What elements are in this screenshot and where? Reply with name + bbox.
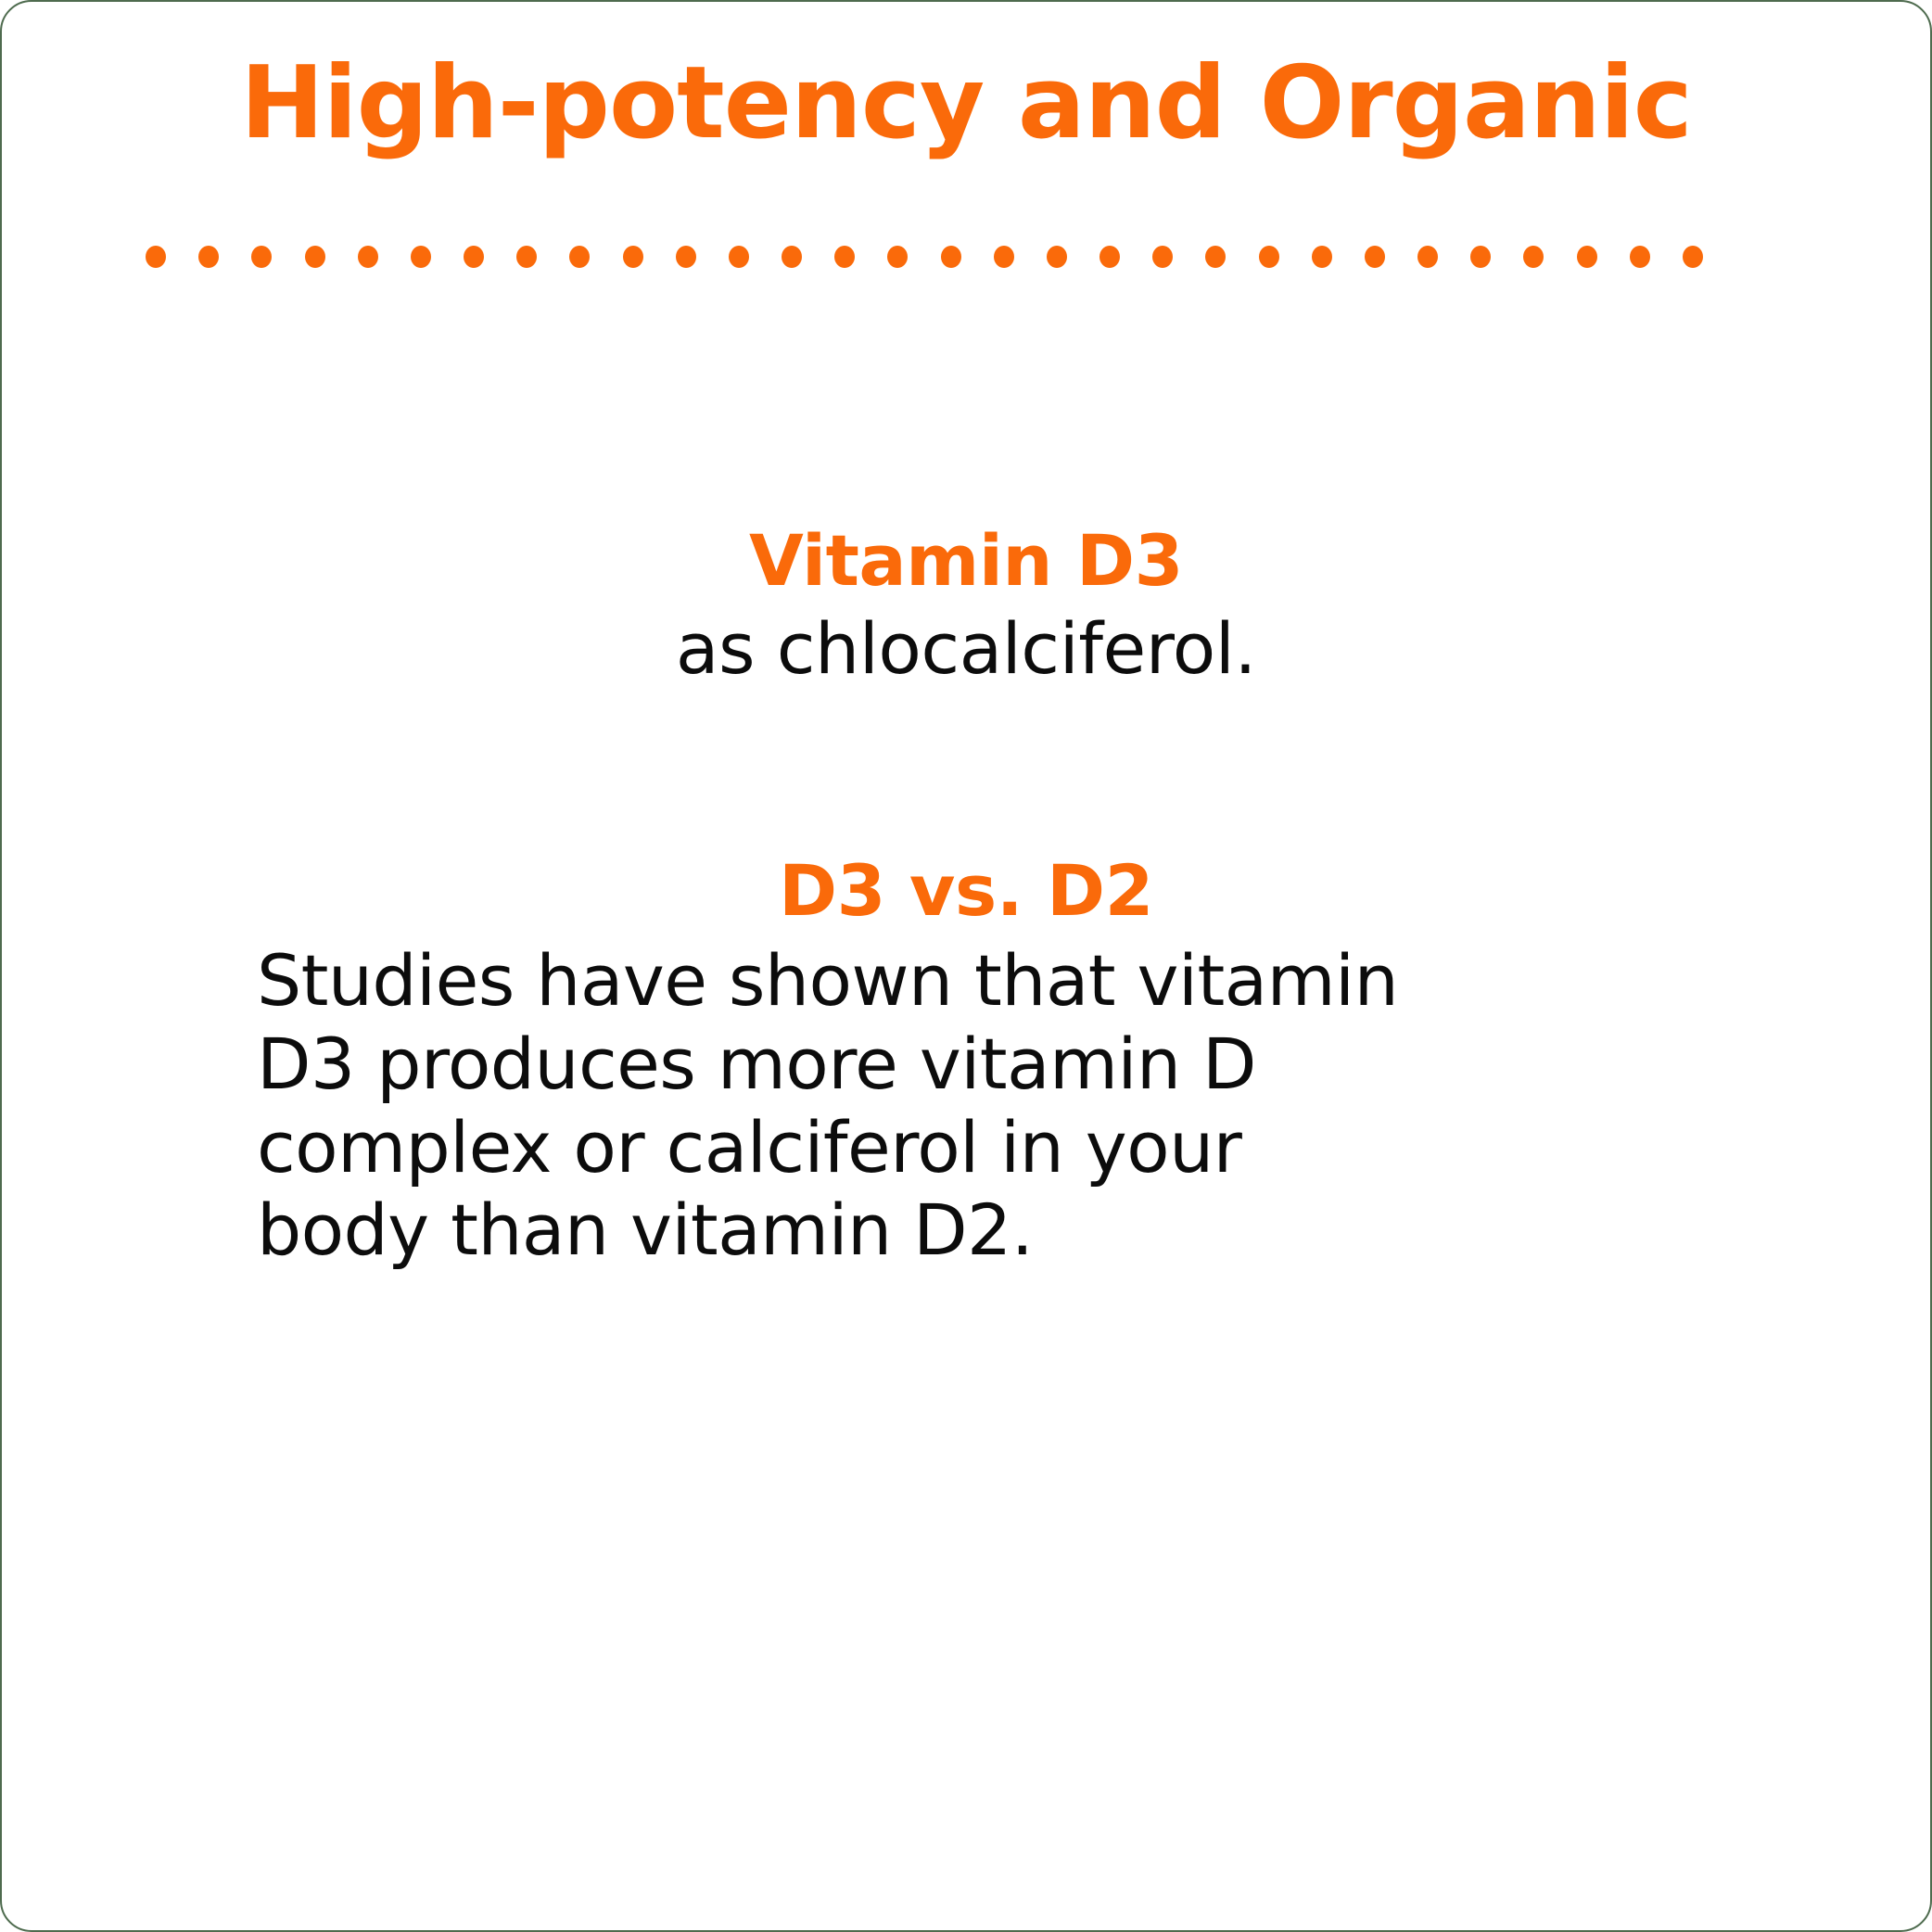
divider-dot [1523, 246, 1544, 268]
divider-dot [1470, 246, 1491, 268]
divider-dot [464, 246, 484, 268]
body-line: complex or calciferol in your [257, 1106, 1675, 1189]
divider-dot [1417, 246, 1438, 268]
section-d3-vs-d2: D3 vs. D2 Studies have shown that vitami… [2, 851, 1930, 1272]
divider-dot [1312, 246, 1332, 268]
divider-dot [1365, 246, 1385, 268]
divider-dot [1152, 246, 1173, 268]
section-body-vitamin-d3: as chlocalciferol. [2, 609, 1930, 688]
divider-dot [1205, 246, 1226, 268]
divider-dot [198, 246, 219, 268]
divider-dot [1630, 246, 1650, 268]
body-line: Studies have shown that vitamin [257, 939, 1675, 1023]
divider-dot [358, 246, 378, 268]
divider-dot [729, 246, 749, 268]
card-header: High-potency and Organic [2, 50, 1930, 159]
section-vitamin-d3: Vitamin D3 as chlocalciferol. [2, 521, 1930, 688]
divider-dot [305, 246, 325, 268]
divider-dot [994, 246, 1014, 268]
divider-dot [1099, 246, 1120, 268]
divider-dot [251, 246, 272, 268]
section-heading-vitamin-d3: Vitamin D3 [2, 521, 1930, 600]
divider-dot [569, 246, 590, 268]
section-body-d3-vs-d2: Studies have shown that vitamin D3 produ… [257, 939, 1675, 1272]
divider-dot [676, 246, 696, 268]
divider-dot [782, 246, 802, 268]
body-line: D3 produces more vitamin D [257, 1023, 1675, 1106]
divider-dot [516, 246, 537, 268]
divider-dot [941, 246, 961, 268]
divider-dot [1683, 246, 1703, 268]
divider-dot [834, 246, 855, 268]
section-body-wrapper: Studies have shown that vitamin D3 produ… [257, 939, 1675, 1272]
dotted-divider [146, 245, 1703, 269]
divider-dot [623, 246, 643, 268]
body-line: body than vitamin D2. [257, 1188, 1675, 1272]
info-card: High-potency and Organic Vitamin D3 as c… [0, 0, 1932, 1932]
section-heading-d3-vs-d2: D3 vs. D2 [2, 851, 1930, 930]
divider-dot [1577, 246, 1597, 268]
divider-dot [146, 246, 166, 268]
card-content: Vitamin D3 as chlocalciferol. D3 vs. D2 … [2, 521, 1930, 1272]
divider-dot [887, 246, 908, 268]
divider-dot [1259, 246, 1279, 268]
divider-dot [411, 246, 431, 268]
page-title: High-potency and Organic [2, 50, 1930, 159]
divider-dot [1047, 246, 1067, 268]
